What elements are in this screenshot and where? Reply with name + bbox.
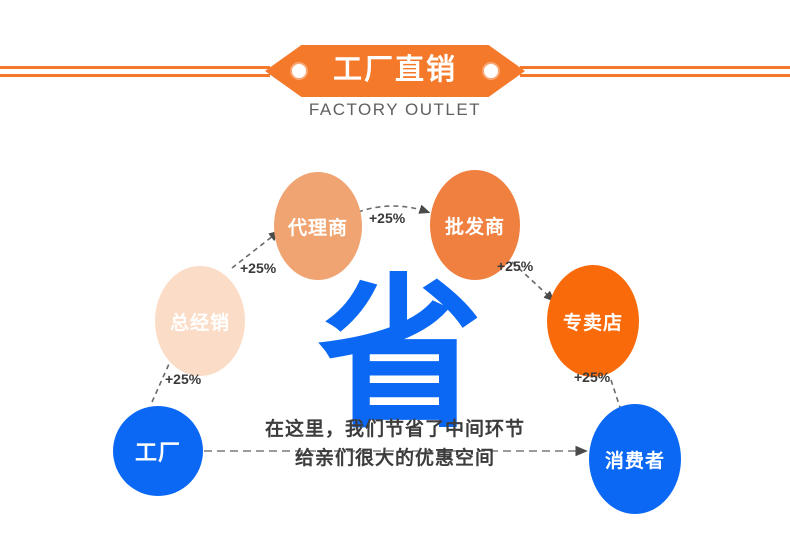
tagline-line-1: 在这里，我们节省了中间环节 [215,415,575,444]
node-consumer-label: 消费者 [605,446,665,473]
node-agent-label: 代理商 [288,213,348,240]
node-factory-label: 工厂 [135,435,181,467]
node-wholesaler-label: 批发商 [445,212,505,239]
promo-banner-page: 工厂直销 FACTORY OUTLET 省 工厂 [0,0,790,549]
supply-chain-diagram: 省 工厂 总经销 代理商 批发商 专卖店 消费者 +25% +25% +25% … [0,140,790,549]
edge-label-factory-to-distributor: +25% [165,371,201,387]
header-banner: 工厂直销 FACTORY OUTLET [0,0,790,140]
edge-label-agent-to-wholesaler: +25% [369,210,405,226]
node-consumer[interactable]: 消费者 [589,404,681,514]
node-distributor-label: 总经销 [170,308,230,335]
tagline-block: 在这里，我们节省了中间环节 给亲们很大的优惠空间 [215,415,575,474]
node-franchise-store[interactable]: 专卖店 [547,265,639,377]
edge-label-distributor-to-agent: +25% [240,260,276,276]
rule-line-right-top [520,66,790,69]
banner-title: 工厂直销 [265,45,525,97]
node-franchise-store-label: 专卖店 [563,308,623,335]
node-distributor[interactable]: 总经销 [155,266,245,376]
banner-subtitle: FACTORY OUTLET [0,100,790,120]
edge-label-franchise-to-consumer: +25% [574,369,610,385]
rule-line-left-top [0,66,270,69]
node-factory[interactable]: 工厂 [113,406,203,496]
node-agent[interactable]: 代理商 [274,172,362,280]
edge-label-wholesaler-to-franchise: +25% [497,258,533,274]
rule-line-left-bottom [0,74,270,77]
rule-line-right-bottom [520,74,790,77]
tagline-line-2: 给亲们很大的优惠空间 [215,444,575,473]
